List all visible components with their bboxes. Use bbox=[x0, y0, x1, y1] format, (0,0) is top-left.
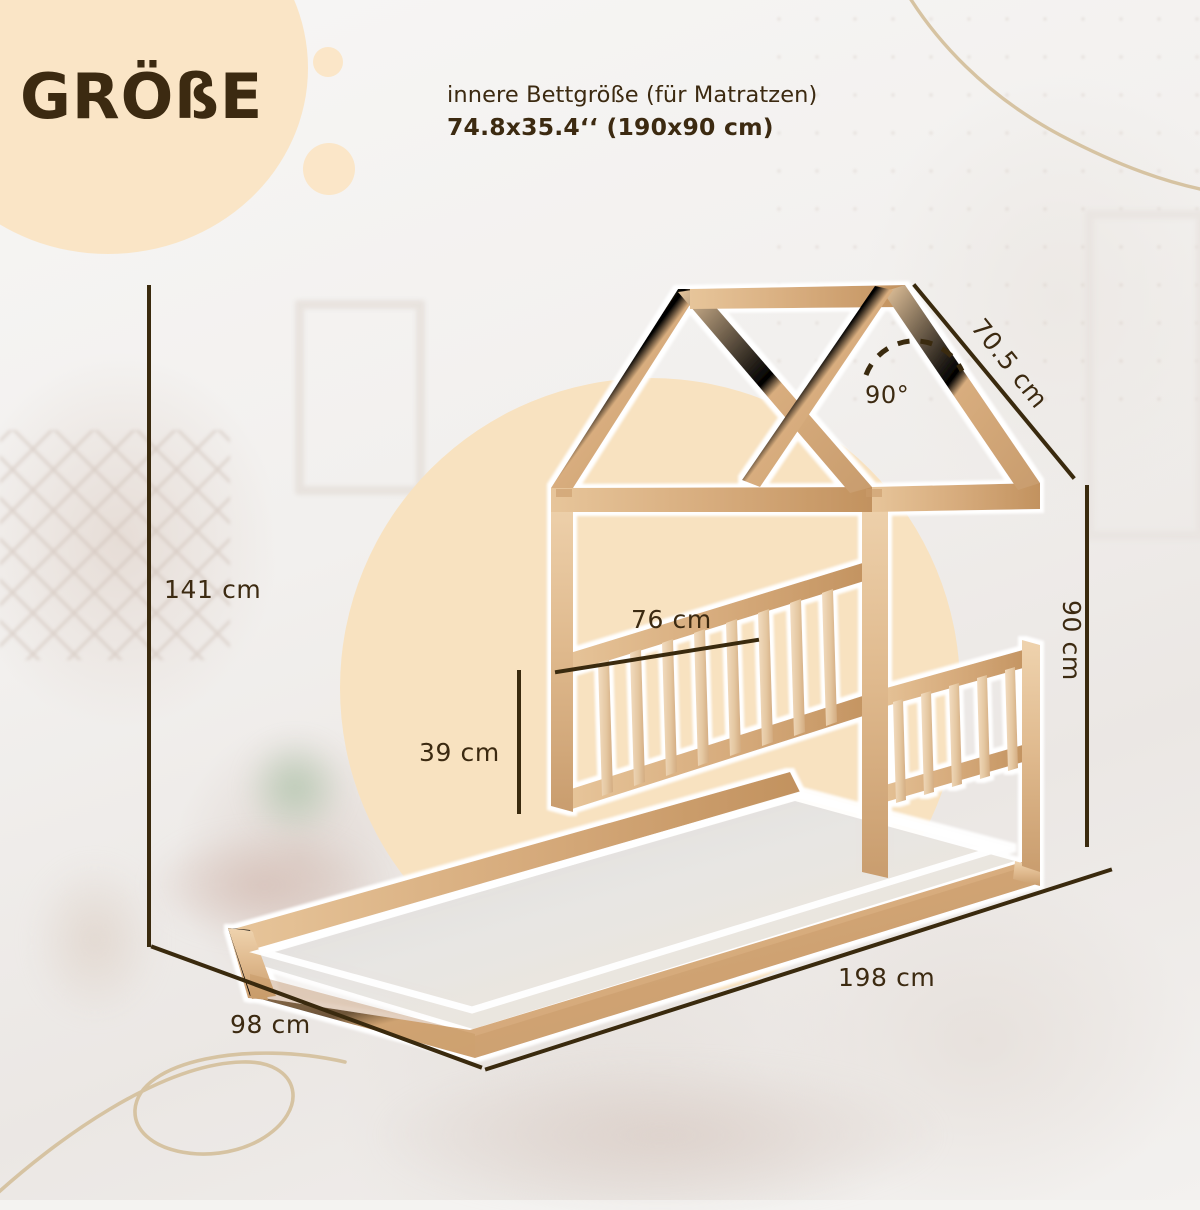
wall-picture-frame-left bbox=[295, 300, 425, 495]
toy-blob bbox=[30, 860, 160, 1020]
lattice-decor bbox=[0, 430, 230, 660]
dimension-label-rail-height: 39 cm bbox=[419, 738, 500, 767]
dimension-label-inner-width-top: 76 cm bbox=[631, 605, 712, 634]
infographic-canvas: GRÖßE innere Bettgröße (für Matratzen) 7… bbox=[0, 0, 1200, 1200]
inner-bed-size-value: 74.8x35.4‘‘ (190x90 cm) bbox=[447, 113, 817, 141]
inner-bed-size-label: innere Bettgröße (für Matratzen) bbox=[447, 82, 817, 108]
dimension-label-side-height: 90 cm bbox=[1057, 600, 1086, 681]
wall-picture-frame-right bbox=[1085, 210, 1200, 540]
rug-blob bbox=[380, 1060, 940, 1210]
page-title: GRÖßE bbox=[20, 60, 263, 133]
decorative-dot-small bbox=[313, 47, 343, 77]
product-highlight-circle bbox=[340, 378, 960, 998]
plant-blob bbox=[240, 740, 350, 835]
dimension-label-total-height: 141 cm bbox=[164, 575, 261, 604]
dimension-label-total-width: 98 cm bbox=[230, 1010, 311, 1039]
dimension-label-total-length: 198 cm bbox=[838, 963, 935, 992]
subtitle-block: innere Bettgröße (für Matratzen) 74.8x35… bbox=[447, 82, 817, 141]
dimension-label-roof-angle: 90° bbox=[865, 381, 909, 409]
decorative-dot-large bbox=[303, 143, 355, 195]
table-blob bbox=[150, 830, 380, 940]
